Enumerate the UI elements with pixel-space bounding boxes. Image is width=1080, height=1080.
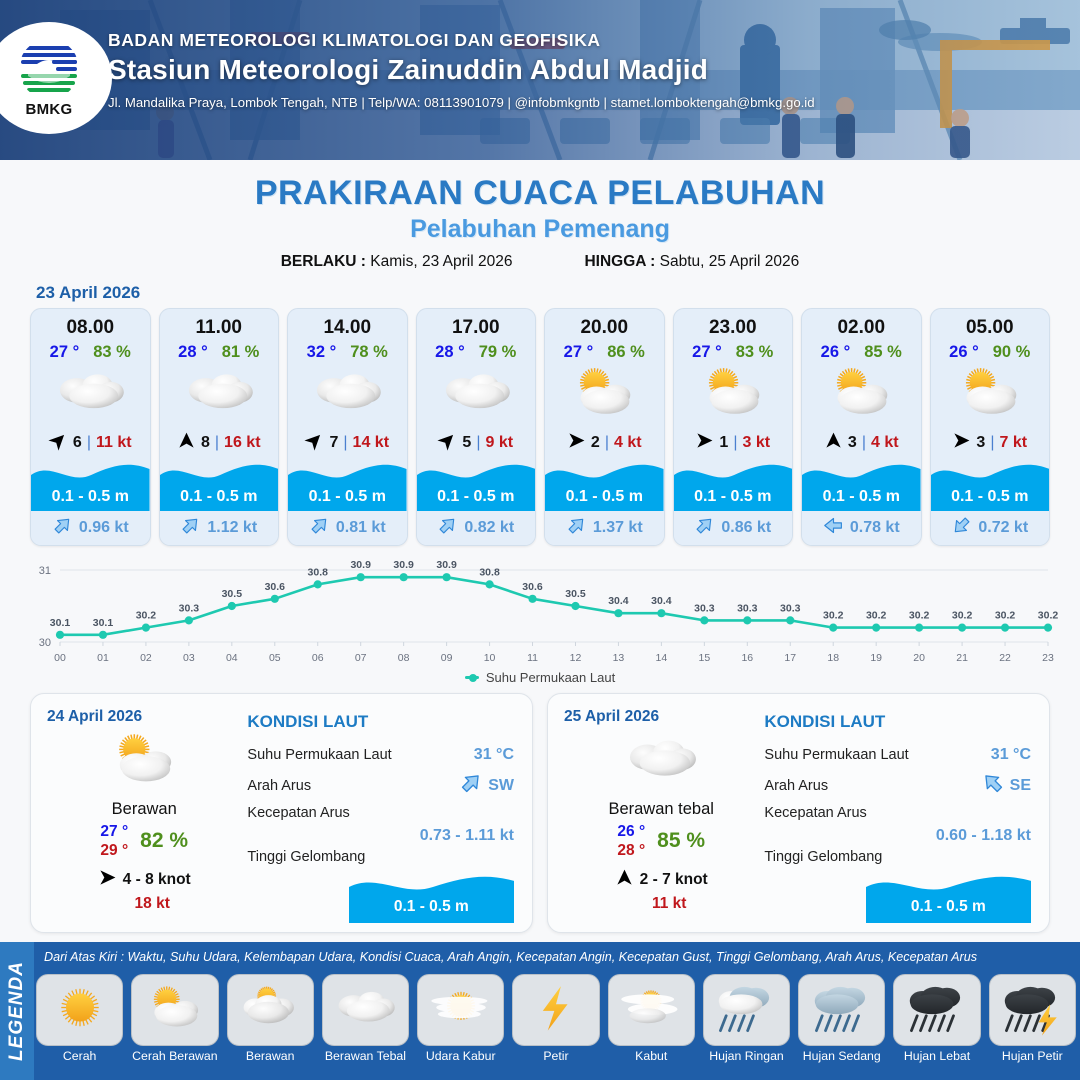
weather-heavy-rain-icon: [893, 974, 980, 1046]
sea-conditions-title: KONDISI LAUT: [764, 712, 1031, 732]
card-humidity: 81 %: [222, 343, 260, 362]
wind-separator: |: [215, 434, 219, 452]
svg-text:18: 18: [827, 652, 839, 664]
card-time: 14.00: [288, 309, 407, 339]
card-time: 23.00: [674, 309, 793, 339]
sst-chart: 3031000102030405060708091011121314151617…: [18, 556, 1062, 668]
wind-speed: 8: [201, 434, 210, 452]
wind-direction-arrow-icon: [305, 431, 324, 455]
weather-mostly-cloudy-icon: [227, 974, 314, 1046]
wind-direction-arrow-icon: [177, 431, 196, 455]
svg-text:30.8: 30.8: [479, 566, 500, 578]
hourly-card: 20.00 27 ° 86 % 2 |: [544, 308, 665, 546]
wind-direction-arrow-icon: [438, 431, 457, 455]
weather-partly-icon: [802, 364, 921, 426]
legend-item-label: Berawan: [227, 1049, 314, 1063]
card-humidity: 83 %: [736, 343, 774, 362]
wind-separator: |: [476, 434, 480, 452]
svg-text:30.3: 30.3: [737, 602, 758, 614]
daily-forecast-panel: 25 April 2026 Berawan tebal 26 ° 28 °: [547, 693, 1050, 933]
wave-height-value: 0.1 - 0.5 m: [417, 488, 536, 506]
wave-height-block: 0.1 - 0.5 m: [31, 460, 150, 512]
svg-text:30.6: 30.6: [265, 581, 286, 593]
svg-text:30.5: 30.5: [222, 588, 243, 600]
daily-temp-max: 29 °: [100, 841, 128, 860]
wind-speed: 2: [591, 434, 600, 452]
wind-speed: 6: [73, 434, 82, 452]
svg-text:30.4: 30.4: [608, 595, 629, 607]
wind-speed: 1: [719, 434, 728, 452]
card-temperature: 27 °: [692, 343, 722, 362]
hourly-card: 11.00 28 ° 81 % 8 | 16 kt: [159, 308, 280, 546]
weather-cloudy-icon: [31, 364, 150, 426]
current-speed: 0.82 kt: [464, 519, 514, 537]
wave-height-block: 0.1 - 0.5 m: [931, 460, 1050, 512]
current-speed: 1.12 kt: [207, 519, 257, 537]
wave-height-label: Tinggi Gelombang: [247, 849, 365, 865]
wave-height-value: 0.1 - 0.5 m: [160, 488, 279, 506]
wave-height-value: 0.1 - 0.5 m: [866, 898, 1031, 916]
svg-text:21: 21: [956, 652, 968, 664]
wind-direction-arrow-icon: [952, 431, 971, 455]
wind-gust: 7 kt: [999, 434, 1027, 452]
hourly-forecast-cards: 08.00 27 ° 83 % 6 | 11 kt: [0, 308, 1080, 546]
legend-item-label: Kabut: [608, 1049, 695, 1063]
valid-to-label: HINGGA :: [584, 253, 655, 270]
legend-item-label: Cerah: [36, 1049, 123, 1063]
current-direction-arrow-icon: [52, 515, 73, 541]
wave-height-block: 0.1 - 0.5 m: [545, 460, 664, 512]
page-title: PRAKIRAAN CUACA PELABUHAN: [0, 174, 1080, 213]
wave-height-value: 0.1 - 0.5 m: [31, 488, 150, 506]
weather-partly-icon: [131, 974, 218, 1046]
wind-separator: |: [733, 434, 737, 452]
wind-separator: |: [605, 434, 609, 452]
svg-text:08: 08: [398, 652, 410, 664]
card-humidity: 83 %: [93, 343, 131, 362]
card-temperature: 28 °: [178, 343, 208, 362]
legend-item: Petir: [512, 974, 599, 1063]
card-time: 05.00: [931, 309, 1050, 339]
wave-height-value: 0.1 - 0.5 m: [288, 488, 407, 506]
daily-humidity: 85 %: [657, 829, 705, 853]
svg-text:31: 31: [39, 565, 51, 577]
wave-height-value: 0.1 - 0.5 m: [802, 488, 921, 506]
legend-side-title-text: LEGENDA: [6, 961, 28, 1061]
svg-text:30.9: 30.9: [393, 559, 414, 571]
svg-text:30.1: 30.1: [93, 617, 114, 629]
svg-text:30.2: 30.2: [995, 610, 1016, 622]
svg-text:30.2: 30.2: [952, 610, 973, 622]
wind-gust: 4 kt: [614, 434, 642, 452]
svg-text:30.3: 30.3: [179, 602, 200, 614]
weather-partly-icon: [47, 730, 241, 794]
daily-date: 24 April 2026: [47, 708, 241, 726]
svg-text:07: 07: [355, 652, 367, 664]
card-time: 20.00: [545, 309, 664, 339]
daily-temp-min: 26 °: [617, 822, 645, 841]
page-header: BMKG BADAN METEOROLOGI KLIMATOLOGI DAN G…: [0, 0, 1080, 160]
daily-temp-max: 28 °: [617, 841, 645, 860]
wind-direction-arrow-icon: [49, 431, 68, 455]
svg-text:03: 03: [183, 652, 195, 664]
daily-gust: 18 kt: [47, 895, 241, 913]
chart-legend-marker: [465, 676, 479, 679]
svg-text:30.9: 30.9: [436, 559, 457, 571]
current-direction-arrow-icon: [180, 515, 201, 541]
svg-text:09: 09: [441, 652, 453, 664]
legend-item: Berawan Tebal: [322, 974, 409, 1063]
wave-height-label: Tinggi Gelombang: [764, 849, 882, 865]
wind-speed: 5: [462, 434, 471, 452]
wave-height-block: 0.1 - 0.5 m: [417, 460, 536, 512]
svg-text:30: 30: [39, 637, 51, 649]
legend-section: LEGENDA Dari Atas Kiri : Waktu, Suhu Uda…: [0, 942, 1080, 1080]
current-speed: 0.86 kt: [721, 519, 771, 537]
current-direction-value: SW: [488, 777, 514, 795]
card-temperature: 27 °: [50, 343, 80, 362]
weather-sun-icon: [36, 974, 123, 1046]
hourly-card: 05.00 26 ° 90 % 3 |: [930, 308, 1051, 546]
legend-item-label: Hujan Petir: [989, 1049, 1076, 1063]
wind-separator: |: [87, 434, 91, 452]
wind-separator: |: [862, 434, 866, 452]
hourly-card: 14.00 32 ° 78 % 7 | 14 kt: [287, 308, 408, 546]
legend-note: Dari Atas Kiri : Waktu, Suhu Udara, Kele…: [44, 950, 1074, 964]
svg-text:00: 00: [54, 652, 66, 664]
weather-cloudy-icon: [160, 364, 279, 426]
hourly-card: 02.00 26 ° 85 % 3 |: [801, 308, 922, 546]
svg-text:12: 12: [570, 652, 582, 664]
svg-text:30.2: 30.2: [909, 610, 930, 622]
card-time: 17.00: [417, 309, 536, 339]
chart-legend-label: Suhu Permukaan Laut: [486, 670, 615, 685]
sst-label: Suhu Permukaan Laut: [247, 747, 391, 763]
current-direction-arrow-icon: [437, 515, 458, 541]
svg-text:16: 16: [741, 652, 753, 664]
wave-height-block: 0.1 - 0.5 m: [288, 460, 407, 512]
hourly-card: 17.00 28 ° 79 % 5 | 9 kt: [416, 308, 537, 546]
card-humidity: 90 %: [993, 343, 1031, 362]
weather-moderate-rain-icon: [798, 974, 885, 1046]
wind-direction-arrow-icon: [567, 431, 586, 455]
svg-text:30.9: 30.9: [350, 559, 371, 571]
svg-text:10: 10: [484, 652, 496, 664]
svg-text:30.2: 30.2: [823, 610, 844, 622]
wind-direction-arrow-icon: [98, 868, 117, 892]
svg-text:04: 04: [226, 652, 238, 664]
current-speed: 0.96 kt: [79, 519, 129, 537]
current-direction-value: SE: [1010, 777, 1031, 795]
svg-text:20: 20: [913, 652, 925, 664]
contact-info: Jl. Mandalika Praya, Lombok Tengah, NTB …: [108, 95, 1070, 110]
valid-from-value: Kamis, 23 April 2026: [370, 253, 512, 270]
hourly-date-label: 23 April 2026: [36, 283, 1080, 303]
svg-text:30.6: 30.6: [522, 581, 543, 593]
svg-text:11: 11: [527, 652, 538, 664]
sst-value: 31 °C: [474, 746, 514, 764]
wind-separator: |: [343, 434, 347, 452]
daily-date: 25 April 2026: [564, 708, 758, 726]
svg-text:15: 15: [699, 652, 711, 664]
svg-text:17: 17: [784, 652, 796, 664]
current-direction-arrow-icon: [823, 515, 844, 541]
svg-text:30.5: 30.5: [565, 588, 586, 600]
wave-height-value: 0.1 - 0.5 m: [545, 488, 664, 506]
wind-gust: 9 kt: [485, 434, 513, 452]
weather-fog-icon: [608, 974, 695, 1046]
wind-speed: 3: [848, 434, 857, 452]
legend-item: Hujan Petir: [989, 974, 1076, 1063]
hourly-card: 23.00 27 ° 83 % 1 |: [673, 308, 794, 546]
weather-haze-icon: [417, 974, 504, 1046]
wind-gust: 4 kt: [871, 434, 899, 452]
legend-item-label: Berawan Tebal: [322, 1049, 409, 1063]
legend-item: Hujan Lebat: [893, 974, 980, 1063]
daily-condition: Berawan: [47, 800, 241, 819]
wave-height-value: 0.1 - 0.5 m: [674, 488, 793, 506]
card-temperature: 26 °: [821, 343, 851, 362]
current-speed-value: 0.60 - 1.18 kt: [764, 827, 1031, 845]
card-time: 02.00: [802, 309, 921, 339]
wave-height-block: 0.1 - 0.5 m: [802, 460, 921, 512]
svg-text:05: 05: [269, 652, 281, 664]
sst-value: 31 °C: [991, 746, 1031, 764]
wind-gust: 16 kt: [224, 434, 260, 452]
legend-item: Hujan Ringan: [703, 974, 790, 1063]
valid-to: HINGGA : Sabtu, 25 April 2026: [584, 253, 799, 271]
wind-direction-arrow-icon: [824, 431, 843, 455]
card-temperature: 28 °: [435, 343, 465, 362]
legend-item-label: Hujan Ringan: [703, 1049, 790, 1063]
wind-direction-arrow-icon: [695, 431, 714, 455]
legend-item: Cerah: [36, 974, 123, 1063]
legend-item: Berawan: [227, 974, 314, 1063]
daily-forecast-panels: 24 April 2026 Berawan 27 ° 29: [0, 685, 1080, 933]
svg-text:23: 23: [1042, 652, 1054, 664]
weather-thunderstorm-icon: [989, 974, 1076, 1046]
current-speed-value: 0.73 - 1.11 kt: [247, 827, 514, 845]
svg-text:01: 01: [97, 652, 109, 664]
svg-text:22: 22: [999, 652, 1011, 664]
current-direction-label: Arah Arus: [247, 778, 311, 794]
hourly-card: 08.00 27 ° 83 % 6 | 11 kt: [30, 308, 151, 546]
wind-speed: 7: [329, 434, 338, 452]
svg-text:14: 14: [656, 652, 668, 664]
daily-gust: 11 kt: [564, 895, 758, 913]
valid-from-label: BERLAKU :: [281, 253, 366, 270]
legend-item-label: Hujan Lebat: [893, 1049, 980, 1063]
current-direction-arrow-icon: [981, 771, 1005, 800]
svg-text:30.8: 30.8: [308, 566, 329, 578]
current-speed: 0.72 kt: [978, 519, 1028, 537]
validity-row: BERLAKU : Kamis, 23 April 2026 HINGGA : …: [0, 253, 1080, 271]
daily-wind-range: 4 - 8 knot: [123, 871, 191, 889]
current-direction-label: Arah Arus: [764, 778, 828, 794]
wave-height-block: 0.1 - 0.5 m: [866, 871, 1031, 923]
weather-cloudy-icon: [564, 730, 758, 794]
weather-cloudy-icon: [288, 364, 407, 426]
weather-cloudy-icon: [417, 364, 536, 426]
svg-text:19: 19: [870, 652, 882, 664]
card-humidity: 85 %: [864, 343, 902, 362]
wind-gust: 11 kt: [96, 434, 132, 452]
card-humidity: 86 %: [607, 343, 645, 362]
weather-partly-icon: [674, 364, 793, 426]
title-block: PRAKIRAAN CUACA PELABUHAN Pelabuhan Peme…: [0, 160, 1080, 271]
svg-text:30.2: 30.2: [136, 610, 157, 622]
weather-lightning-icon: [512, 974, 599, 1046]
card-humidity: 78 %: [350, 343, 388, 362]
weather-cloudy-icon: [322, 974, 409, 1046]
svg-text:30.2: 30.2: [1038, 610, 1059, 622]
legend-item: Udara Kabur: [417, 974, 504, 1063]
weather-partly-icon: [545, 364, 664, 426]
wind-separator: |: [990, 434, 994, 452]
bmkg-logo-mark: [18, 38, 80, 100]
wind-direction-arrow-icon: [615, 868, 634, 892]
legend-item-label: Cerah Berawan: [131, 1049, 218, 1063]
wave-height-value: 0.1 - 0.5 m: [931, 488, 1050, 506]
daily-temp-min: 27 °: [100, 822, 128, 841]
wave-height-block: 0.1 - 0.5 m: [349, 871, 514, 923]
legend-item-label: Udara Kabur: [417, 1049, 504, 1063]
svg-text:30.3: 30.3: [780, 602, 801, 614]
svg-text:06: 06: [312, 652, 324, 664]
wave-height-block: 0.1 - 0.5 m: [160, 460, 279, 512]
card-humidity: 79 %: [479, 343, 517, 362]
legend-item: Kabut: [608, 974, 695, 1063]
svg-text:30.3: 30.3: [694, 602, 715, 614]
current-speed: 0.78 kt: [850, 519, 900, 537]
card-temperature: 32 °: [307, 343, 337, 362]
legend-item: Hujan Sedang: [798, 974, 885, 1063]
daily-humidity: 82 %: [140, 829, 188, 853]
valid-from: BERLAKU : Kamis, 23 April 2026: [281, 253, 513, 271]
legend-side-title: LEGENDA: [0, 942, 34, 1080]
daily-condition: Berawan tebal: [564, 800, 758, 819]
svg-text:02: 02: [140, 652, 152, 664]
current-speed: 0.81 kt: [336, 519, 386, 537]
valid-to-value: Sabtu, 25 April 2026: [660, 253, 800, 270]
svg-text:30.4: 30.4: [651, 595, 672, 607]
current-speed-label: Kecepatan Arus: [247, 805, 349, 821]
legend-item: Cerah Berawan: [131, 974, 218, 1063]
current-direction-arrow-icon: [951, 515, 972, 541]
sst-label: Suhu Permukaan Laut: [764, 747, 908, 763]
current-speed-label: Kecepatan Arus: [764, 805, 866, 821]
current-direction-arrow-icon: [459, 771, 483, 800]
current-direction-arrow-icon: [694, 515, 715, 541]
daily-wind-range: 2 - 7 knot: [640, 871, 708, 889]
station-name: Stasiun Meteorologi Zainuddin Abdul Madj…: [108, 54, 1070, 86]
legend-item-label: Hujan Sedang: [798, 1049, 885, 1063]
current-direction-arrow-icon: [309, 515, 330, 541]
wind-gust: 3 kt: [742, 434, 770, 452]
weather-light-rain-icon: [703, 974, 790, 1046]
wave-height-value: 0.1 - 0.5 m: [349, 898, 514, 916]
wave-height-block: 0.1 - 0.5 m: [674, 460, 793, 512]
page-subtitle: Pelabuhan Pemenang: [0, 215, 1080, 244]
svg-text:13: 13: [613, 652, 625, 664]
daily-forecast-panel: 24 April 2026 Berawan 27 ° 29: [30, 693, 533, 933]
card-time: 11.00: [160, 309, 279, 339]
svg-text:30.1: 30.1: [50, 617, 71, 629]
legend-items: Cerah Cerah Berawan: [36, 974, 1076, 1063]
svg-text:30.2: 30.2: [866, 610, 887, 622]
current-speed: 1.37 kt: [593, 519, 643, 537]
card-temperature: 26 °: [949, 343, 979, 362]
weather-partly-icon: [931, 364, 1050, 426]
chart-legend: Suhu Permukaan Laut: [0, 670, 1080, 685]
card-time: 08.00: [31, 309, 150, 339]
wind-gust: 14 kt: [353, 434, 389, 452]
current-direction-arrow-icon: [566, 515, 587, 541]
wind-speed: 3: [976, 434, 985, 452]
card-temperature: 27 °: [564, 343, 594, 362]
legend-item-label: Petir: [512, 1049, 599, 1063]
bmkg-logo-text: BMKG: [10, 101, 88, 118]
sea-conditions-title: KONDISI LAUT: [247, 712, 514, 732]
agency-name: BADAN METEOROLOGI KLIMATOLOGI DAN GEOFIS…: [108, 30, 1070, 51]
